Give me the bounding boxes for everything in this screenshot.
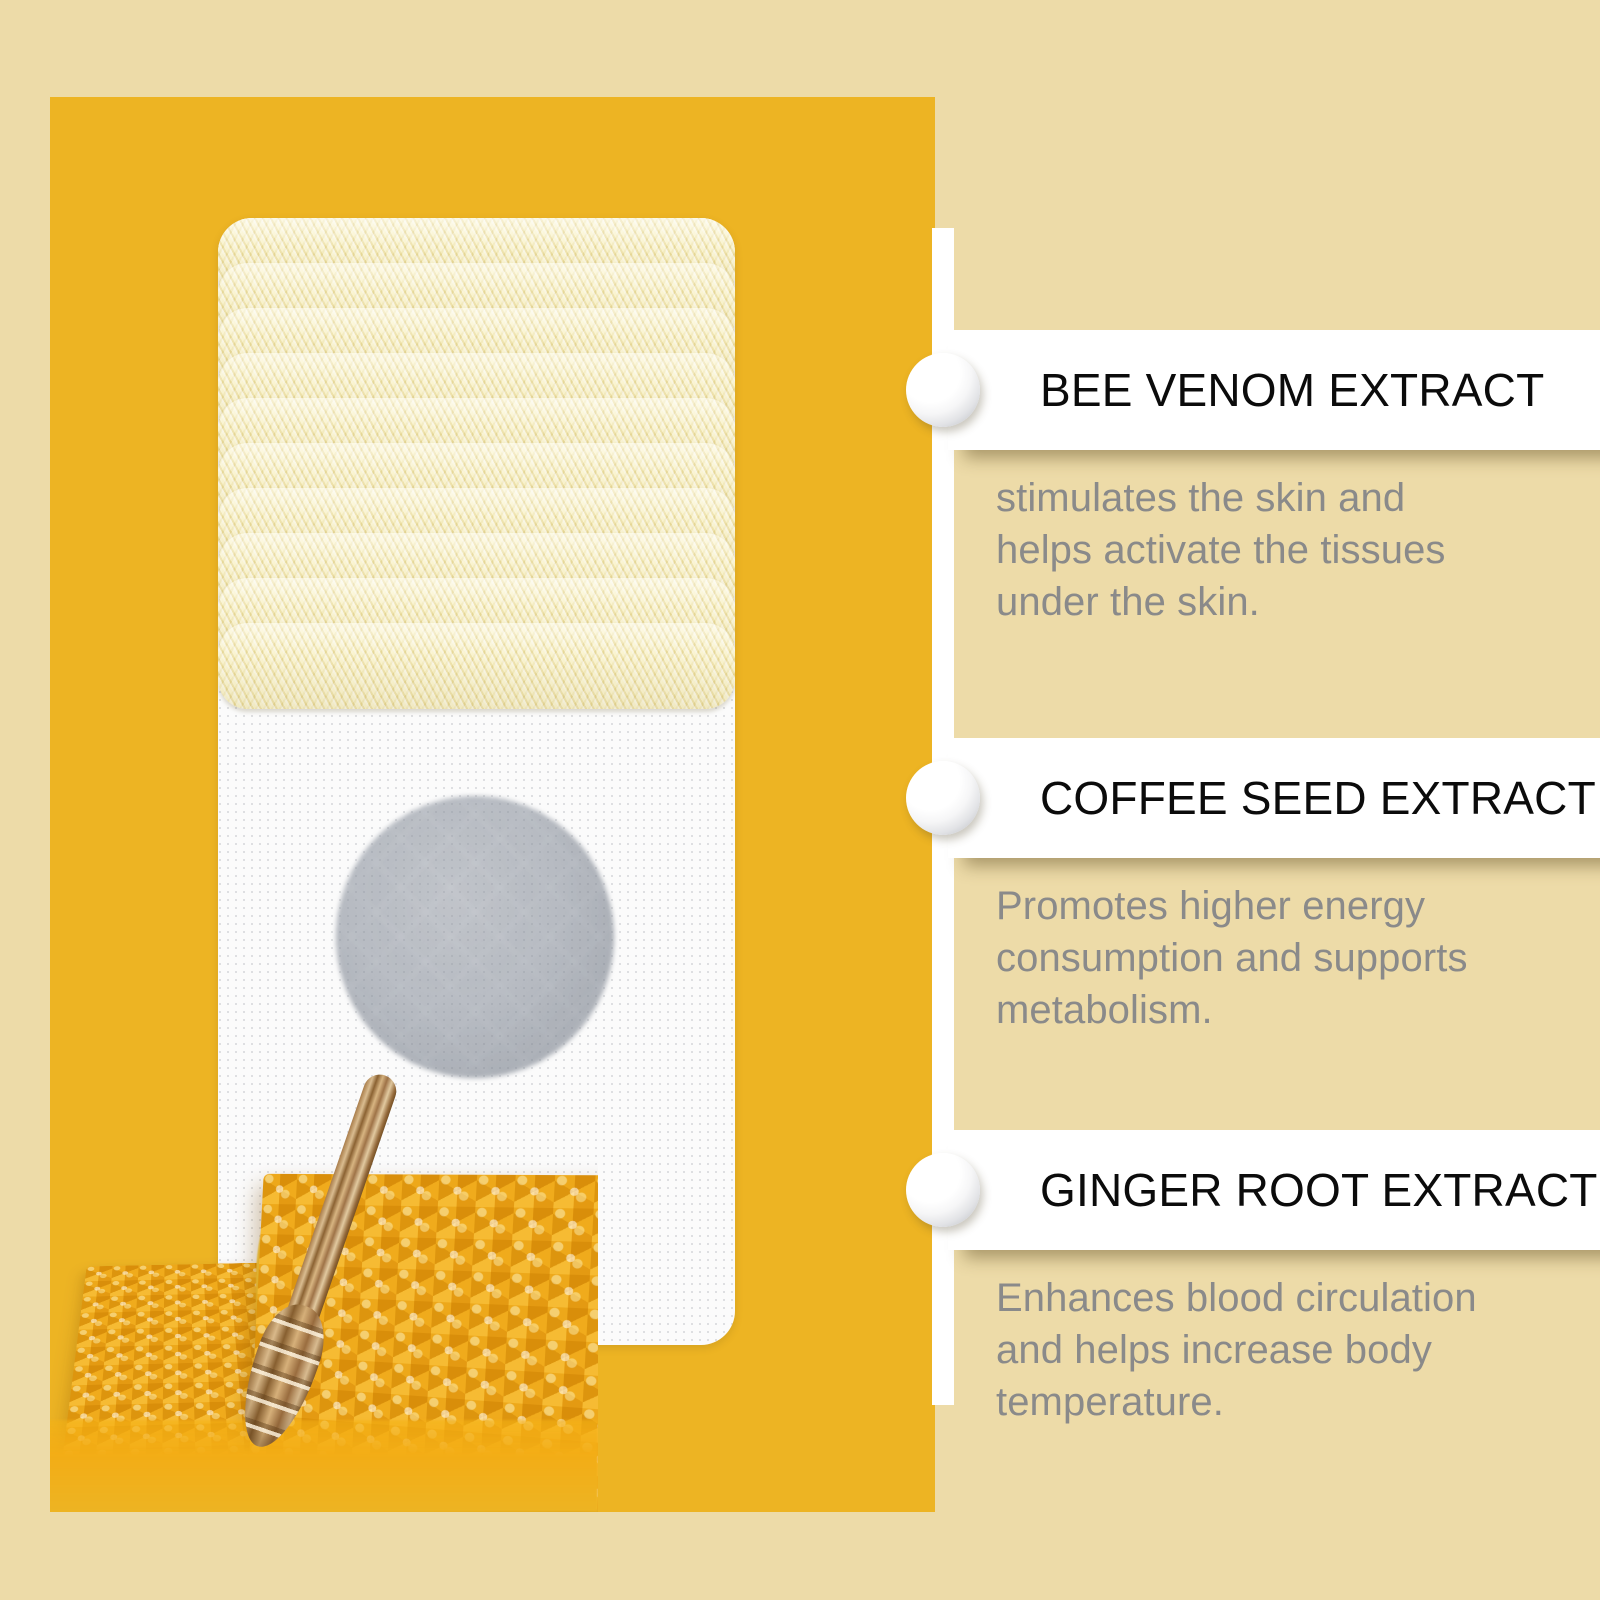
ingredient-title-ginger-root: GINGER ROOT EXTRACT — [1040, 1163, 1598, 1217]
ingredient-title-bee-venom: BEE VENOM EXTRACT — [1040, 363, 1544, 417]
ingredient-title-card-bee-venom[interactable]: BEE VENOM EXTRACT — [948, 330, 1600, 450]
infographic-canvas: BEE VENOM EXTRACT stimulates the skin an… — [0, 0, 1600, 1600]
ingredient-description-bee-venom: stimulates the skin and helps activate t… — [996, 472, 1516, 628]
ingredient-title-coffee-seed: COFFEE SEED EXTRACT — [1040, 771, 1596, 825]
ingredient-title-card-ginger-root[interactable]: GINGER ROOT EXTRACT — [948, 1130, 1600, 1250]
sphere-bullet-icon — [906, 353, 980, 427]
ingredient-description-ginger-root: Enhances blood circulation and helps inc… — [996, 1272, 1536, 1428]
sphere-bullet-icon — [906, 1153, 980, 1227]
ingredient-title-card-coffee-seed[interactable]: COFFEE SEED EXTRACT — [948, 738, 1600, 858]
sphere-bullet-icon — [906, 761, 980, 835]
ingredient-description-coffee-seed: Promotes higher energy consumption and s… — [996, 880, 1516, 1036]
ingredient-list: BEE VENOM EXTRACT stimulates the skin an… — [0, 0, 1600, 1600]
